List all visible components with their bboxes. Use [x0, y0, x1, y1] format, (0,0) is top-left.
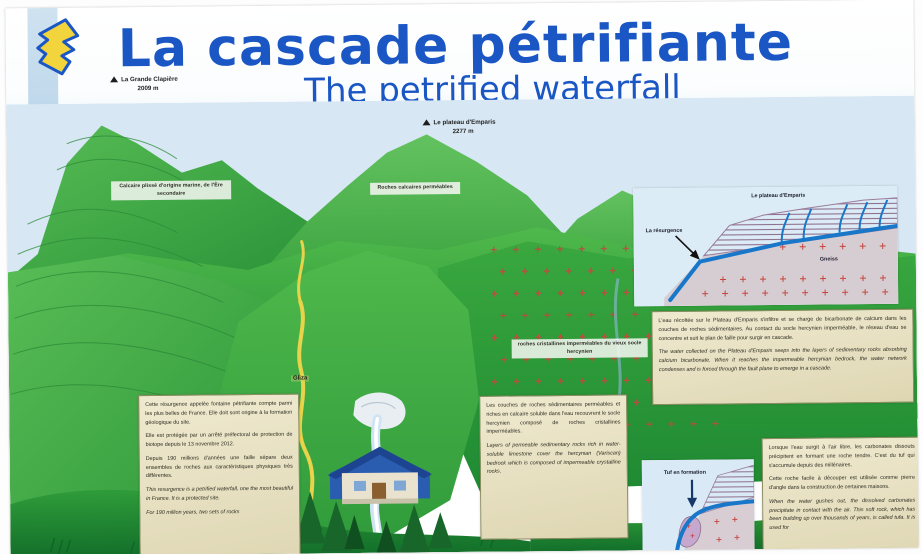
fon-en: When the water gushes out, the dissolved… — [769, 496, 915, 532]
peak-name: Le plateau d'Emparis — [433, 119, 495, 127]
peak-label-grande-clapiere: La Grande Clapière 2009 m — [110, 75, 178, 94]
sign-board: La cascade pétrifiante The petrified wat… — [5, 0, 918, 554]
map-label-village: Gliza — [291, 375, 309, 381]
mid-en: Layers of permeable sedimentary rocks ri… — [487, 440, 621, 476]
map-label-roches-cristallines: roches cristallines imperméables du vieu… — [512, 338, 648, 358]
left-en-2: For 190 million years, two sets of rocks — [146, 507, 293, 517]
mountain-triangle-icon — [422, 119, 430, 125]
res-fr-text: L'eau récoltée sur le Plateau d'Emparis … — [658, 315, 906, 344]
yellow-lightning-logo — [35, 17, 98, 76]
middle-text-panel: Les couches de roches sédimentaires perm… — [479, 394, 628, 539]
peak-label-plateau-emparis: Le plateau d'Emparis 2277 m — [422, 118, 495, 137]
left-fr-2: Elle est protégée par un arrêté préfecto… — [145, 431, 292, 450]
fon-fr-2: Cette roche facile à découper est utilis… — [769, 474, 915, 493]
left-fr-3: Depuis 190 millions d'années une faille … — [146, 453, 293, 481]
mid-fr: Les couches de roches sédimentaires perm… — [486, 400, 620, 436]
tuf-diagram: Tuf en formation — [642, 459, 755, 554]
fontaine-text-panel: Lorsque l'eau surgit à l'air libre, les … — [762, 437, 919, 554]
left-text-panel: Cette résurgence appelée fontaine pétrif… — [138, 394, 301, 554]
diagram-label-gneiss: Gneiss — [820, 256, 838, 262]
diagram-label-plateau: Le plateau d'Emparis — [751, 193, 805, 200]
fon-fr-1: Lorsque l'eau surgit à l'air libre, les … — [769, 443, 915, 471]
left-en-1: This resurgence is a petrified waterfall… — [146, 485, 293, 504]
map-label-roches-calcaires: Roches calcaires perméables — [370, 182, 460, 194]
resurgence-text-panel: L'eau récoltée sur le Plateau d'Emparis … — [651, 309, 914, 406]
peak-altitude: 2009 m — [110, 84, 178, 94]
mountain-triangle-icon — [110, 76, 118, 82]
left-fr-1: Cette résurgence appelée fontaine pétrif… — [145, 400, 292, 428]
interpretive-sign-photo: La cascade pétrifiante The petrified wat… — [0, 0, 922, 554]
peak-name: La Grande Clapière — [121, 76, 178, 84]
resurgence-diagram: Le plateau d'Emparis La résurgence Gneis… — [633, 186, 898, 307]
diagram-label-resurgence: La résurgence — [646, 228, 683, 234]
map-label-calcaire: Calcaire plissé d'origine marine, de l'È… — [111, 180, 231, 200]
diagram-label-tuf: Tuf en formation — [664, 470, 706, 476]
res-en-text: The water collected on the Plateau d'Emp… — [659, 346, 907, 375]
peak-altitude: 2277 m — [423, 127, 496, 137]
